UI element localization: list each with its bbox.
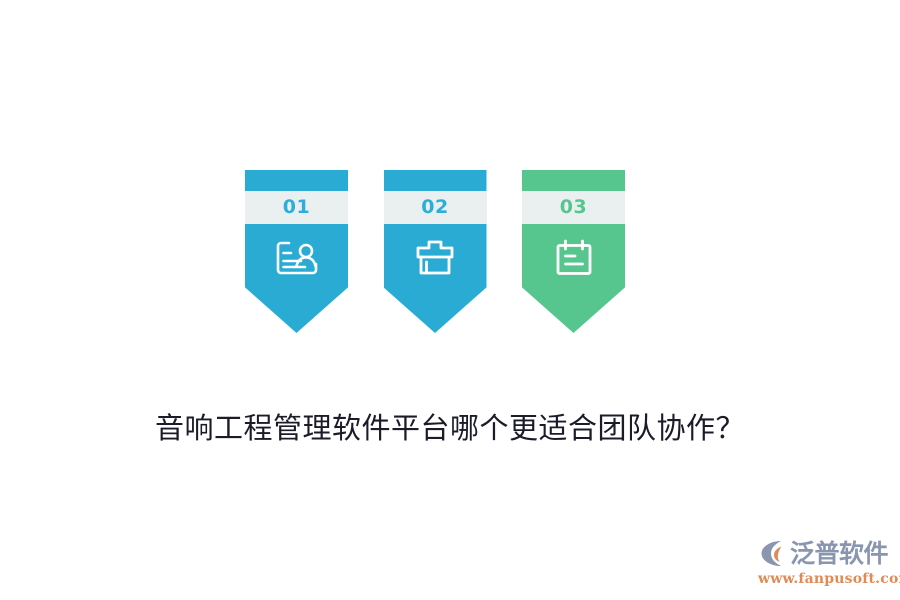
logo-wordmark: 泛普软件 — [790, 541, 888, 566]
contact-card-icon — [245, 230, 348, 286]
banner-number-label: 02 — [421, 198, 448, 217]
calendar-note-icon — [522, 230, 625, 286]
page-canvas: 01 02 — [0, 0, 900, 600]
banner-item-03[interactable]: 03 — [522, 170, 625, 333]
banner-number-band: 01 — [245, 191, 348, 224]
banner-item-02[interactable]: 02 — [384, 170, 487, 333]
page-title: 音响工程管理软件平台哪个更适合团队协作？ — [0, 405, 900, 447]
banner-group: 01 02 — [245, 170, 625, 335]
logo-row: 泛普软件 — [758, 536, 893, 570]
banner-number-band: 02 — [384, 191, 487, 224]
brand-logo[interactable]: 泛普软件 www.fanpusoft.com — [758, 536, 893, 588]
banner-number-band: 03 — [522, 191, 625, 224]
banner-number-label: 03 — [560, 198, 587, 217]
store-front-icon — [384, 230, 487, 286]
banner-number-label: 01 — [283, 198, 310, 217]
banner-item-01[interactable]: 01 — [245, 170, 348, 333]
logo-url: www.fanpusoft.com — [758, 571, 893, 587]
fanpu-logo-mark-icon — [758, 538, 788, 568]
